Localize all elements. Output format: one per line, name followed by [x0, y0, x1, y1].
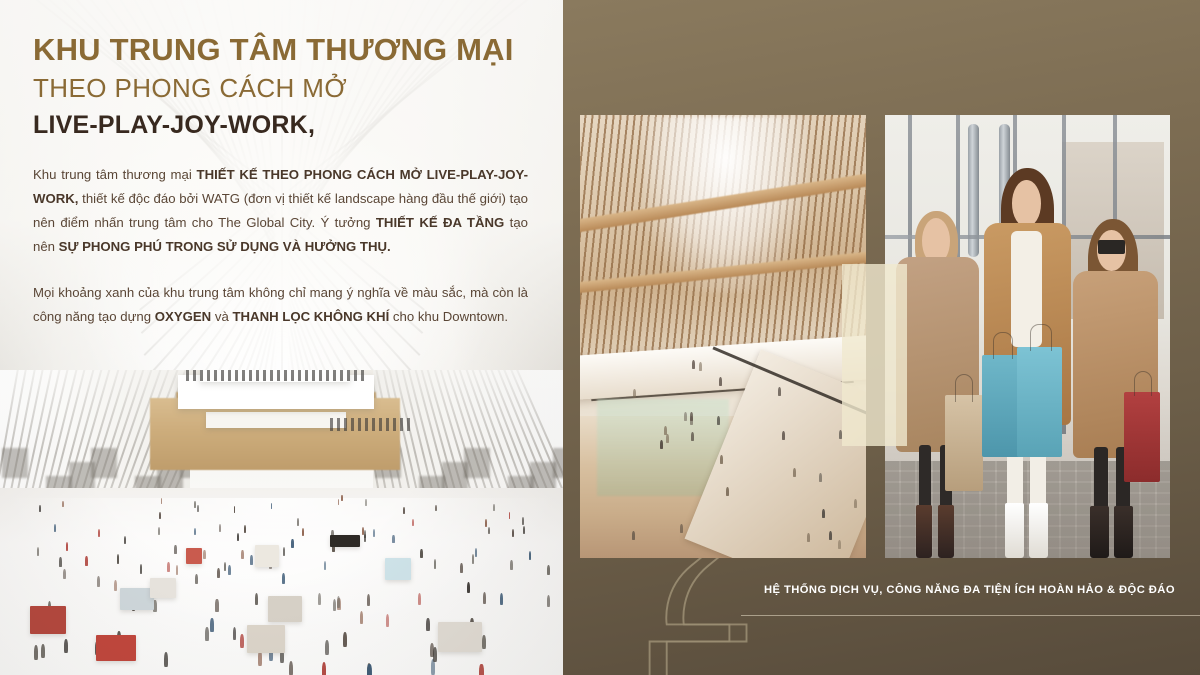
pedestrian: [159, 512, 161, 519]
pedestrian: [64, 639, 68, 653]
headline-line-1: KHU TRUNG TÂM THƯƠNG MẠI: [33, 30, 528, 70]
shopper-right: [1065, 212, 1165, 558]
shopper-left-boot-1: [916, 505, 932, 558]
pedestrian: [114, 580, 117, 591]
pedestrian: [318, 593, 321, 605]
pedestrian: [460, 563, 463, 573]
pedestrian: [433, 647, 437, 662]
headline-line-2: THEO PHONG CÁCH MỞ: [33, 70, 528, 106]
render-figure: [664, 426, 667, 435]
pedestrian: [59, 557, 62, 567]
pedestrian: [479, 664, 483, 675]
pedestrian: [194, 501, 196, 507]
pedestrian: [467, 582, 470, 593]
render-figure: [632, 531, 635, 540]
pedestrian: [522, 517, 524, 524]
shopper-left-bag-handle: [955, 374, 974, 402]
render-figure: [717, 416, 720, 425]
body-paragraph-2: Mọi khoảng xanh của khu trung tâm không …: [33, 281, 528, 329]
pedestrian: [523, 526, 525, 534]
render-figure: [829, 531, 832, 540]
right-gallery-panel: HỆ THỐNG DỊCH VỤ, CÔNG NĂNG ĐA TIỆN ÍCH …: [563, 0, 1200, 675]
render-figure: [692, 360, 695, 369]
render-figure: [690, 416, 693, 425]
pedestrian: [341, 495, 343, 501]
pedestrian: [510, 560, 513, 570]
pedestrian: [367, 664, 371, 675]
pedestrian: [250, 555, 253, 565]
pedestrian: [241, 550, 244, 559]
retail-kiosk: [150, 578, 176, 598]
caption-rule: [741, 615, 1200, 616]
atrium-balcony-lower: [206, 412, 346, 428]
pedestrian: [343, 632, 347, 646]
pedestrian: [512, 529, 514, 537]
pedestrian: [205, 627, 209, 641]
pedestrian: [547, 565, 550, 575]
pedestrian: [228, 565, 231, 575]
retail-kiosk: [186, 548, 202, 564]
pedestrian: [403, 507, 405, 514]
pedestrian: [117, 554, 120, 564]
retail-kiosk: [96, 635, 136, 661]
atrium-crowd-mid: [186, 370, 366, 381]
pedestrian: [39, 505, 41, 512]
left-hero-panel: KHU TRUNG TÂM THƯƠNG MẠI THEO PHONG CÁCH…: [0, 0, 563, 675]
pedestrian: [41, 644, 45, 659]
shopper-center-boot-2: [1029, 503, 1048, 558]
retail-kiosk: [247, 625, 285, 653]
pedestrian: [203, 550, 206, 559]
render-figure: [691, 432, 694, 441]
pedestrian: [297, 518, 299, 525]
pedestrian: [124, 536, 126, 544]
render-figure: [699, 362, 702, 371]
body-paragraph-1: Khu trung tâm thương mại THIẾT KẾ THEO P…: [33, 163, 528, 259]
render-figure: [666, 434, 669, 443]
headline-block: KHU TRUNG TÂM THƯƠNG MẠI THEO PHONG CÁCH…: [33, 30, 528, 329]
shopper-right-boot-2: [1114, 506, 1133, 558]
pedestrian: [98, 529, 100, 537]
shopper-center-boot-1: [1005, 503, 1024, 558]
pedestrian: [34, 645, 38, 660]
pedestrian: [435, 505, 437, 512]
render-figure: [684, 412, 687, 421]
pedestrian: [367, 594, 370, 606]
render-figure: [680, 524, 683, 533]
gallery-photo-atrium: [580, 115, 866, 558]
pedestrian: [174, 545, 176, 554]
shopper-left-boot-2: [938, 505, 954, 558]
gallery-caption: HỆ THỐNG DỊCH VỤ, CÔNG NĂNG ĐA TIỆN ÍCH …: [764, 584, 1175, 596]
pedestrian: [360, 611, 364, 624]
shopper-center-blue-bag-1: [982, 355, 1021, 456]
shopper-left-leg-1: [919, 445, 931, 512]
pedestrian: [386, 614, 390, 627]
atrium-photo: [0, 370, 563, 675]
pedestrian: [337, 596, 340, 608]
shopper-right-bag-handle: [1134, 371, 1152, 395]
pedestrian: [237, 533, 239, 541]
pedestrian: [195, 574, 198, 585]
atrium-crowd-side: [330, 418, 410, 431]
pedestrian: [63, 569, 66, 579]
headline-line-3: LIVE-PLAY-JOY-WORK,: [33, 107, 528, 143]
pedestrian: [325, 640, 329, 655]
text-run: Khu trung tâm thương mại: [33, 167, 197, 182]
render-figure: [822, 509, 825, 518]
text-run: và: [211, 309, 232, 324]
shopper-center-bag-handle-2: [1030, 324, 1053, 351]
shopper-right-red-bag: [1124, 392, 1160, 482]
presentation-slide: KHU TRUNG TÂM THƯƠNG MẠI THEO PHONG CÁCH…: [0, 0, 1200, 675]
pedestrian: [483, 592, 486, 604]
pedestrian: [364, 534, 366, 542]
pedestrian: [158, 527, 160, 535]
pedestrian: [217, 568, 220, 578]
pedestrian: [66, 542, 68, 551]
pedestrian: [547, 595, 550, 607]
pedestrian: [140, 564, 143, 574]
pedestrian: [529, 551, 532, 560]
pedestrian: [420, 549, 423, 558]
pedestrian: [215, 599, 218, 611]
text-run: cho khu Downtown.: [389, 309, 508, 324]
shopper-center-head: [1012, 180, 1041, 227]
pedestrian: [426, 618, 430, 631]
render-figure: [660, 440, 663, 449]
emphasis-run: SỰ PHONG PHÚ TRONG SỬ DỤNG VÀ HƯỞNG THỤ.: [59, 239, 391, 254]
retail-kiosk: [120, 588, 154, 610]
pedestrian: [291, 539, 293, 548]
render-figure: [807, 533, 810, 542]
retail-kiosk: [330, 535, 360, 547]
retail-kiosk: [30, 606, 66, 634]
retail-kiosk: [385, 558, 411, 580]
render-figure: [720, 455, 723, 464]
render-figure: [782, 431, 785, 440]
pedestrian: [85, 556, 88, 566]
pedestrian: [197, 505, 199, 512]
shopper-center: [976, 168, 1079, 558]
cream-accent-rectangle: [842, 264, 907, 446]
pedestrian: [475, 548, 478, 557]
emphasis-run: OXYGEN: [155, 309, 211, 324]
pedestrian: [493, 504, 495, 511]
render-figure: [819, 473, 822, 482]
pedestrian: [322, 662, 326, 675]
pedestrian: [167, 562, 170, 572]
pedestrian: [365, 499, 367, 505]
shopper-right-sunglasses-icon: [1098, 240, 1125, 254]
pedestrian: [194, 528, 196, 536]
pedestrian: [482, 635, 486, 649]
pedestrian: [500, 593, 503, 605]
pedestrian: [210, 618, 214, 631]
pedestrian: [472, 554, 475, 564]
pedestrian: [161, 498, 163, 504]
render-figure: [633, 389, 636, 398]
shopper-center-blue-bag-2: [1017, 347, 1062, 456]
pedestrian: [97, 576, 100, 587]
gallery-photo-shoppers: [885, 115, 1170, 558]
pedestrian: [240, 634, 244, 648]
emphasis-run: THANH LỌC KHÔNG KHÍ: [232, 309, 389, 324]
retail-kiosk: [438, 622, 482, 652]
pedestrian: [392, 535, 394, 543]
retail-kiosk: [255, 545, 279, 567]
shopper-right-boot-1: [1090, 506, 1109, 558]
emphasis-run: THIẾT KẾ ĐA TẦNG: [376, 215, 504, 230]
render-figure: [778, 387, 781, 396]
retail-kiosk: [268, 596, 302, 622]
pedestrian: [302, 528, 304, 536]
shopper-center-bag-handle-1: [993, 332, 1014, 359]
